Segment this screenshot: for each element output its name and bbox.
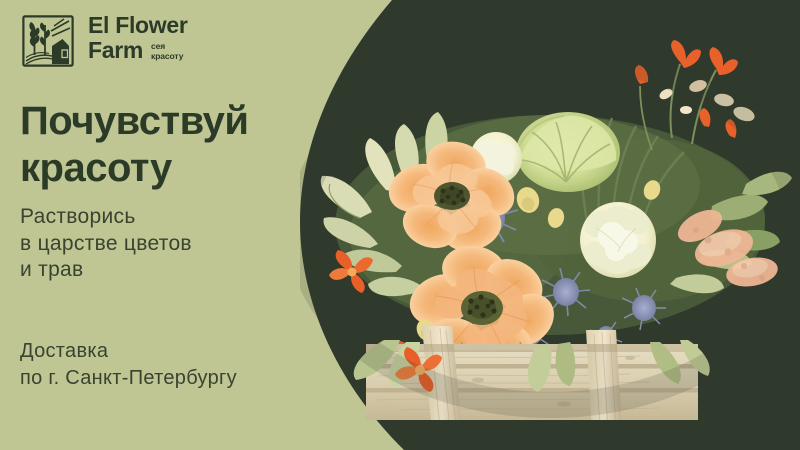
farm-plant-house-emblem-icon [22,15,74,67]
subheadline-line1: Растворись [20,204,350,231]
delivery-info: Доставка по г. Санкт-Петербургу [20,338,237,392]
delivery-line1: Доставка [20,338,237,365]
brand-name-row2: Farm сея красоту [88,38,188,63]
subheadline: Растворись в царстве цветов и трав [20,204,350,284]
page-title: Почувствуй красоту [20,98,350,192]
subheadline-line2: в царстве цветов [20,231,350,258]
flower-arrangement-image [300,40,800,420]
brand-logo[interactable]: El Flower Farm сея красоту [22,14,188,67]
brand-wordmark: El Flower Farm сея красоту [88,13,188,63]
promo-banner: El Flower Farm сея красоту Почувствуй кр… [0,0,800,450]
headline-block: Почувствуй красоту Растворись в царстве … [20,98,350,284]
brand-tagline: сея красоту [151,42,183,61]
subheadline-line3: и трав [20,257,350,284]
brand-tagline-line2: красоту [151,52,183,62]
brand-name-line2: Farm [88,38,143,63]
brand-name-line1: El Flower [88,13,188,38]
headline-line2: красоту [20,145,350,192]
delivery-line2: по г. Санкт-Петербургу [20,365,237,392]
headline-line1: Почувствуй [20,98,350,145]
